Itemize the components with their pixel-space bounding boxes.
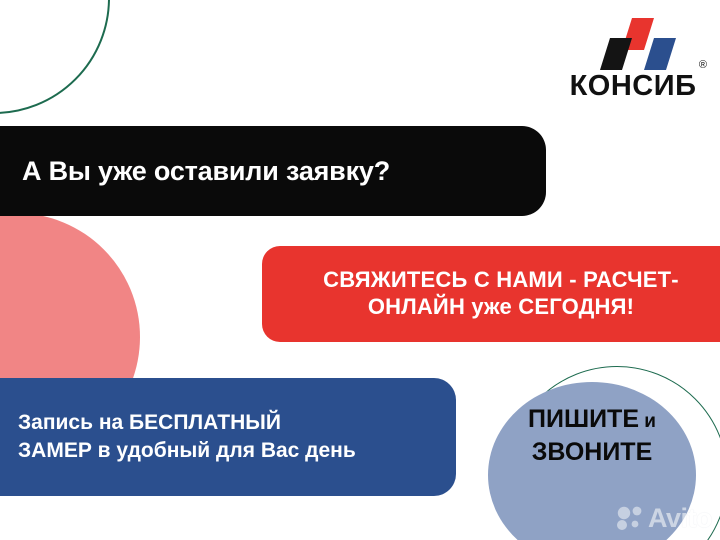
promo-poster: КОНСИБ ® А Вы уже оставили заявку? СВЯЖИ… (0, 0, 720, 540)
registered-trademark-icon: ® (699, 60, 708, 71)
avito-watermark: Avito (615, 503, 712, 534)
decorative-green-circle-top-left (0, 0, 110, 114)
brand-logo: КОНСИБ ® (560, 16, 706, 101)
contact-callout-conjunction: и (639, 411, 656, 432)
avito-watermark-text: Avito (648, 503, 712, 534)
blue-offer-line-2: ЗАМЕР в удобный для Вас день (18, 437, 456, 465)
contact-callout: ПИШИТЕ и ЗВОНИТЕ (488, 404, 696, 467)
red-cta-line-2: ОНЛАЙН уже СЕГОДНЯ! (368, 294, 634, 321)
red-cta-banner: СВЯЖИТЕСЬ С НАМИ - РАСЧЕТ- ОНЛАЙН уже СЕ… (262, 246, 720, 342)
avito-dots-icon (615, 506, 645, 532)
headline-banner: А Вы уже оставили заявку? (0, 126, 546, 216)
logo-wordmark: КОНСИБ ® (570, 72, 697, 101)
red-cta-line-1: СВЯЖИТЕСЬ С НАМИ - РАСЧЕТ- (323, 267, 679, 294)
logo-wordmark-text: КОНСИБ (570, 70, 697, 102)
contact-callout-line-1: ПИШИТЕ и (488, 404, 696, 434)
contact-callout-line-2: ЗВОНИТЕ (488, 437, 696, 467)
logo-mark-icon (560, 16, 706, 72)
blue-offer-banner: Запись на БЕСПЛАТНЫЙ ЗАМЕР в удобный для… (0, 378, 456, 496)
headline-text: А Вы уже оставили заявку? (0, 156, 390, 187)
contact-callout-strong: ПИШИТЕ (528, 405, 639, 433)
blue-offer-line-1: Запись на БЕСПЛАТНЫЙ (18, 409, 456, 437)
